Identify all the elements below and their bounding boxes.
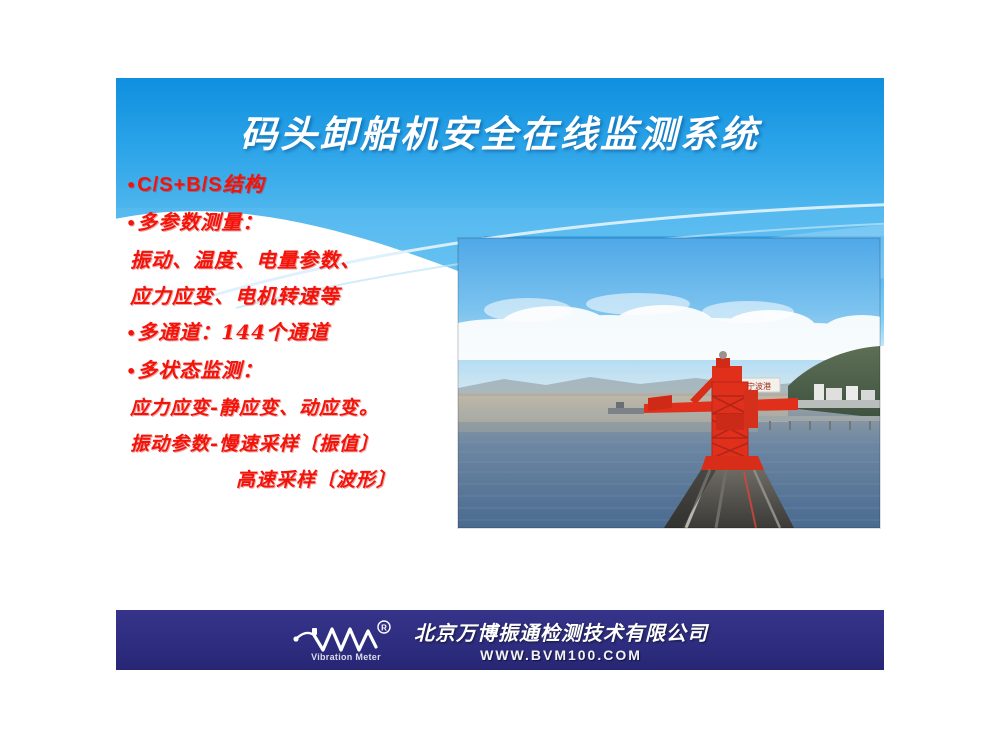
bullet-line-7: 应力应变-静应变、动应变。 (126, 390, 486, 426)
bullet-line-5: •多通道：144个通道 (126, 314, 486, 352)
logo-subtitle: Vibration Meter (292, 652, 400, 662)
bullet-line-3: 振动、温度、电量参数、 (126, 242, 486, 278)
footer-bar: R Vibration Meter 北京万博振通检测技术有限公司 WWW.BVM… (116, 610, 884, 670)
bullet-line-1-cn: 结构 (223, 172, 265, 196)
footer-website-url: WWW.BVM100.COM (480, 647, 642, 663)
bullet-line-5-text: 多通道：144个通道 (137, 320, 329, 344)
bullet-line-4: 应力应变、电机转速等 (126, 278, 486, 314)
bullet-marker: • (126, 362, 137, 381)
bullet-line-2: •多参数测量： (126, 204, 486, 242)
bullet-marker: • (126, 214, 137, 233)
bullet-marker: • (126, 324, 137, 343)
bullet-list: •C/S+B/S结构 •多参数测量： 振动、温度、电量参数、 应力应变、电机转速… (126, 166, 486, 498)
footer-company-name: 北京万博振通检测技术有限公司 (414, 617, 708, 646)
bullet-line-9: 高速采样〔波形〕 (126, 462, 486, 498)
slide-title: 码头卸船机安全在线监测系统 (116, 104, 884, 158)
svg-text:R: R (381, 624, 387, 633)
bullet-line-6: •多状态监测： (126, 352, 486, 390)
bullet-line-8: 振动参数-慢速采样〔振值〕 (126, 426, 486, 462)
svg-text:宁波港: 宁波港 (747, 381, 771, 391)
footer-text-block: 北京万博振通检测技术有限公司 WWW.BVM100.COM (414, 617, 708, 663)
bullet-line-1-ascii: C/S+B/S (137, 174, 222, 196)
bullet-line-6-text: 多状态监测： (137, 358, 263, 382)
vibration-meter-logo: R Vibration Meter (292, 617, 400, 663)
bullet-line-1: •C/S+B/S结构 (126, 166, 486, 204)
bullet-line-2-text: 多参数测量： (137, 210, 263, 234)
presentation-slide: 码头卸船机安全在线监测系统 •C/S+B/S结构 •多参数测量： 振动、温度、电… (116, 78, 884, 670)
port-ship-unloader-photo: 宁波港 (458, 238, 880, 528)
bullet-marker: • (126, 176, 137, 195)
